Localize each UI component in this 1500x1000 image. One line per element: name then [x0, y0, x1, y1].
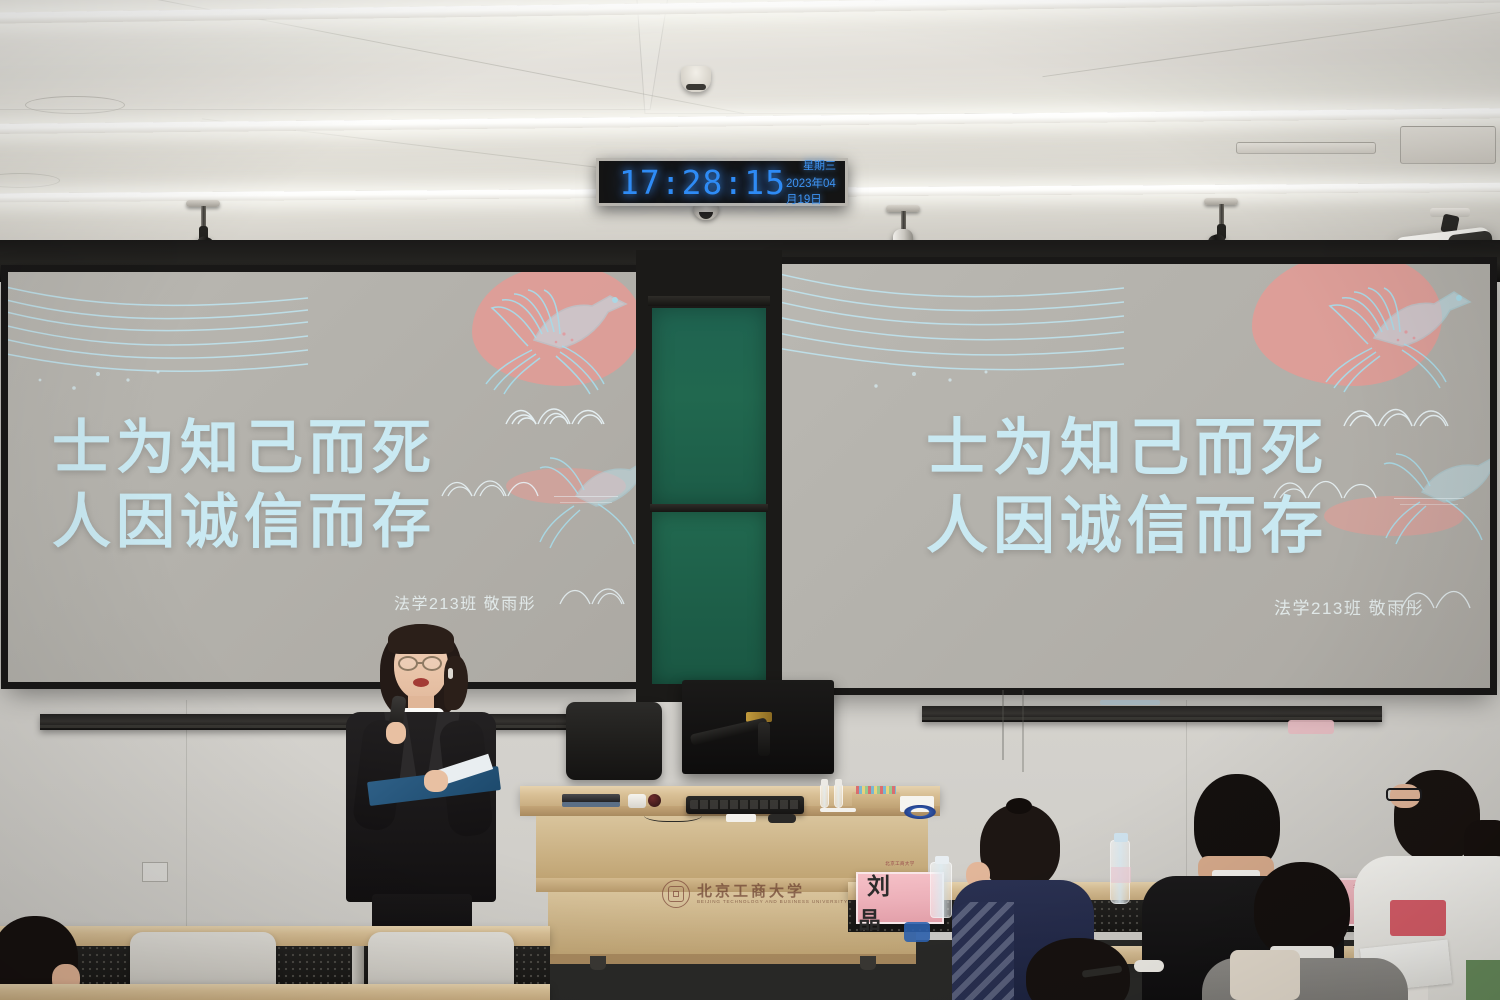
- red-item: [1390, 900, 1446, 936]
- lecture-hall-photo: 17:28:15 星期三 2023年04月19日: [0, 0, 1500, 1000]
- attendee-head: [980, 804, 1060, 890]
- university-name-cn: 北京工商大学: [697, 884, 848, 900]
- presenter-hair: [388, 624, 454, 654]
- wall-outlet: [142, 862, 168, 882]
- desk-folder: [1466, 960, 1500, 1000]
- attendee-head: [1254, 862, 1350, 958]
- sanitizer-bottle: [834, 784, 843, 808]
- glasses-icon: [422, 656, 442, 671]
- presenter-mouth: [413, 678, 429, 687]
- digital-wall-clock: 17:28:15 星期三 2023年04月19日: [596, 158, 848, 206]
- presenter-hand-left: [386, 722, 406, 744]
- line-decor: [1394, 498, 1464, 499]
- ceiling: [0, 0, 1500, 250]
- line-decor: [560, 502, 612, 503]
- projection-screen-right: 士为知己而死 人因诚信而存 法学213班 敬雨彤: [774, 264, 1490, 688]
- attendee-pattern-sleeve: [952, 902, 1014, 1000]
- projection-screen-left: 士为知己而死 人因诚信而存 法学213班 敬雨彤: [8, 272, 642, 682]
- desk-mouse[interactable]: [768, 814, 796, 823]
- line-decor: [1400, 504, 1458, 505]
- crane-decor: [1378, 442, 1490, 572]
- crane-decor: [536, 448, 642, 568]
- cable-coil: [902, 804, 938, 820]
- desk-item: [1134, 960, 1164, 972]
- ceiling-tile: [636, 0, 1500, 114]
- glasses-icon: [398, 656, 418, 671]
- stream-lines-decor: [774, 264, 1124, 414]
- line-decor: [554, 496, 618, 497]
- desk-device-base: [562, 802, 620, 807]
- wall-cable: [1022, 690, 1024, 772]
- university-name-en: BEIJING TECHNOLOGY AND BUSINESS UNIVERSI…: [697, 899, 848, 904]
- ceiling-vent: [1236, 142, 1376, 154]
- wall-seam: [186, 700, 187, 940]
- desk-caddy: [852, 792, 900, 808]
- front-desk: [0, 984, 550, 1000]
- wave-decor: [502, 388, 612, 432]
- ceiling-vent: [1400, 126, 1496, 164]
- monitor-arm-post: [758, 722, 770, 756]
- glasses-bridge: [417, 662, 423, 664]
- tray-marker: [1100, 700, 1160, 705]
- clock-time: 17:28:15: [599, 163, 786, 202]
- placard-org: 北京工商大学: [885, 861, 914, 867]
- water-bottle: [930, 862, 952, 918]
- ceiling-diffuser: [0, 173, 60, 188]
- desk-paper: [726, 814, 756, 822]
- desk-paper: [820, 808, 856, 812]
- smoke-detector-icon: [681, 66, 711, 92]
- clock-date: 2023年04月19日: [786, 175, 836, 207]
- chalkboard-rail: [650, 504, 768, 512]
- dome-camera-icon: [693, 205, 719, 220]
- slide-title-line1: 士为知己而死: [926, 412, 1328, 485]
- clock-weekday: 星期三: [803, 157, 836, 173]
- lectern-keyboard[interactable]: [686, 796, 804, 814]
- wave-decor: [1340, 388, 1458, 434]
- presenter-ponytail: [444, 656, 468, 710]
- tote-bag: [1230, 950, 1300, 1000]
- chalkboard-rail: [648, 296, 770, 306]
- tray-eraser: [1288, 720, 1334, 734]
- green-chalkboard: [652, 308, 766, 506]
- attendee-hair-tie: [1006, 798, 1032, 814]
- slide-title-line2: 人因诚信而存: [52, 488, 436, 558]
- stream-lines-decor: [8, 272, 308, 418]
- desk-item-blue: [904, 922, 930, 942]
- water-bottle: [1110, 840, 1130, 904]
- wave-decor: [438, 462, 542, 504]
- earring-icon: [448, 668, 453, 679]
- university-seal-icon: [662, 880, 690, 908]
- wave-decor: [556, 572, 642, 612]
- presenter-hand-right: [424, 770, 448, 792]
- green-chalkboard: [652, 512, 766, 684]
- slide-byline: 法学213班 敬雨彤: [394, 590, 536, 614]
- slide-title-line2: 人因诚信而存: [926, 490, 1328, 563]
- audience-member: [1006, 938, 1156, 1000]
- office-chair[interactable]: [566, 702, 662, 780]
- sanitizer-bottle: [820, 784, 829, 808]
- slide-title-line1: 士为知己而死: [52, 414, 436, 484]
- desk-markers: [856, 786, 896, 794]
- wall-cable: [1002, 690, 1004, 760]
- glasses-icon: [1386, 788, 1422, 801]
- lectern-caster: [860, 956, 876, 970]
- ceiling-diffuser: [25, 96, 125, 114]
- slide-byline: 法学213班 敬雨彤: [1274, 594, 1424, 619]
- lectern-caster: [590, 956, 606, 970]
- university-logo: 北京工商大学 BEIJING TECHNOLOGY AND BUSINESS U…: [662, 880, 848, 908]
- presenter: [328, 616, 528, 946]
